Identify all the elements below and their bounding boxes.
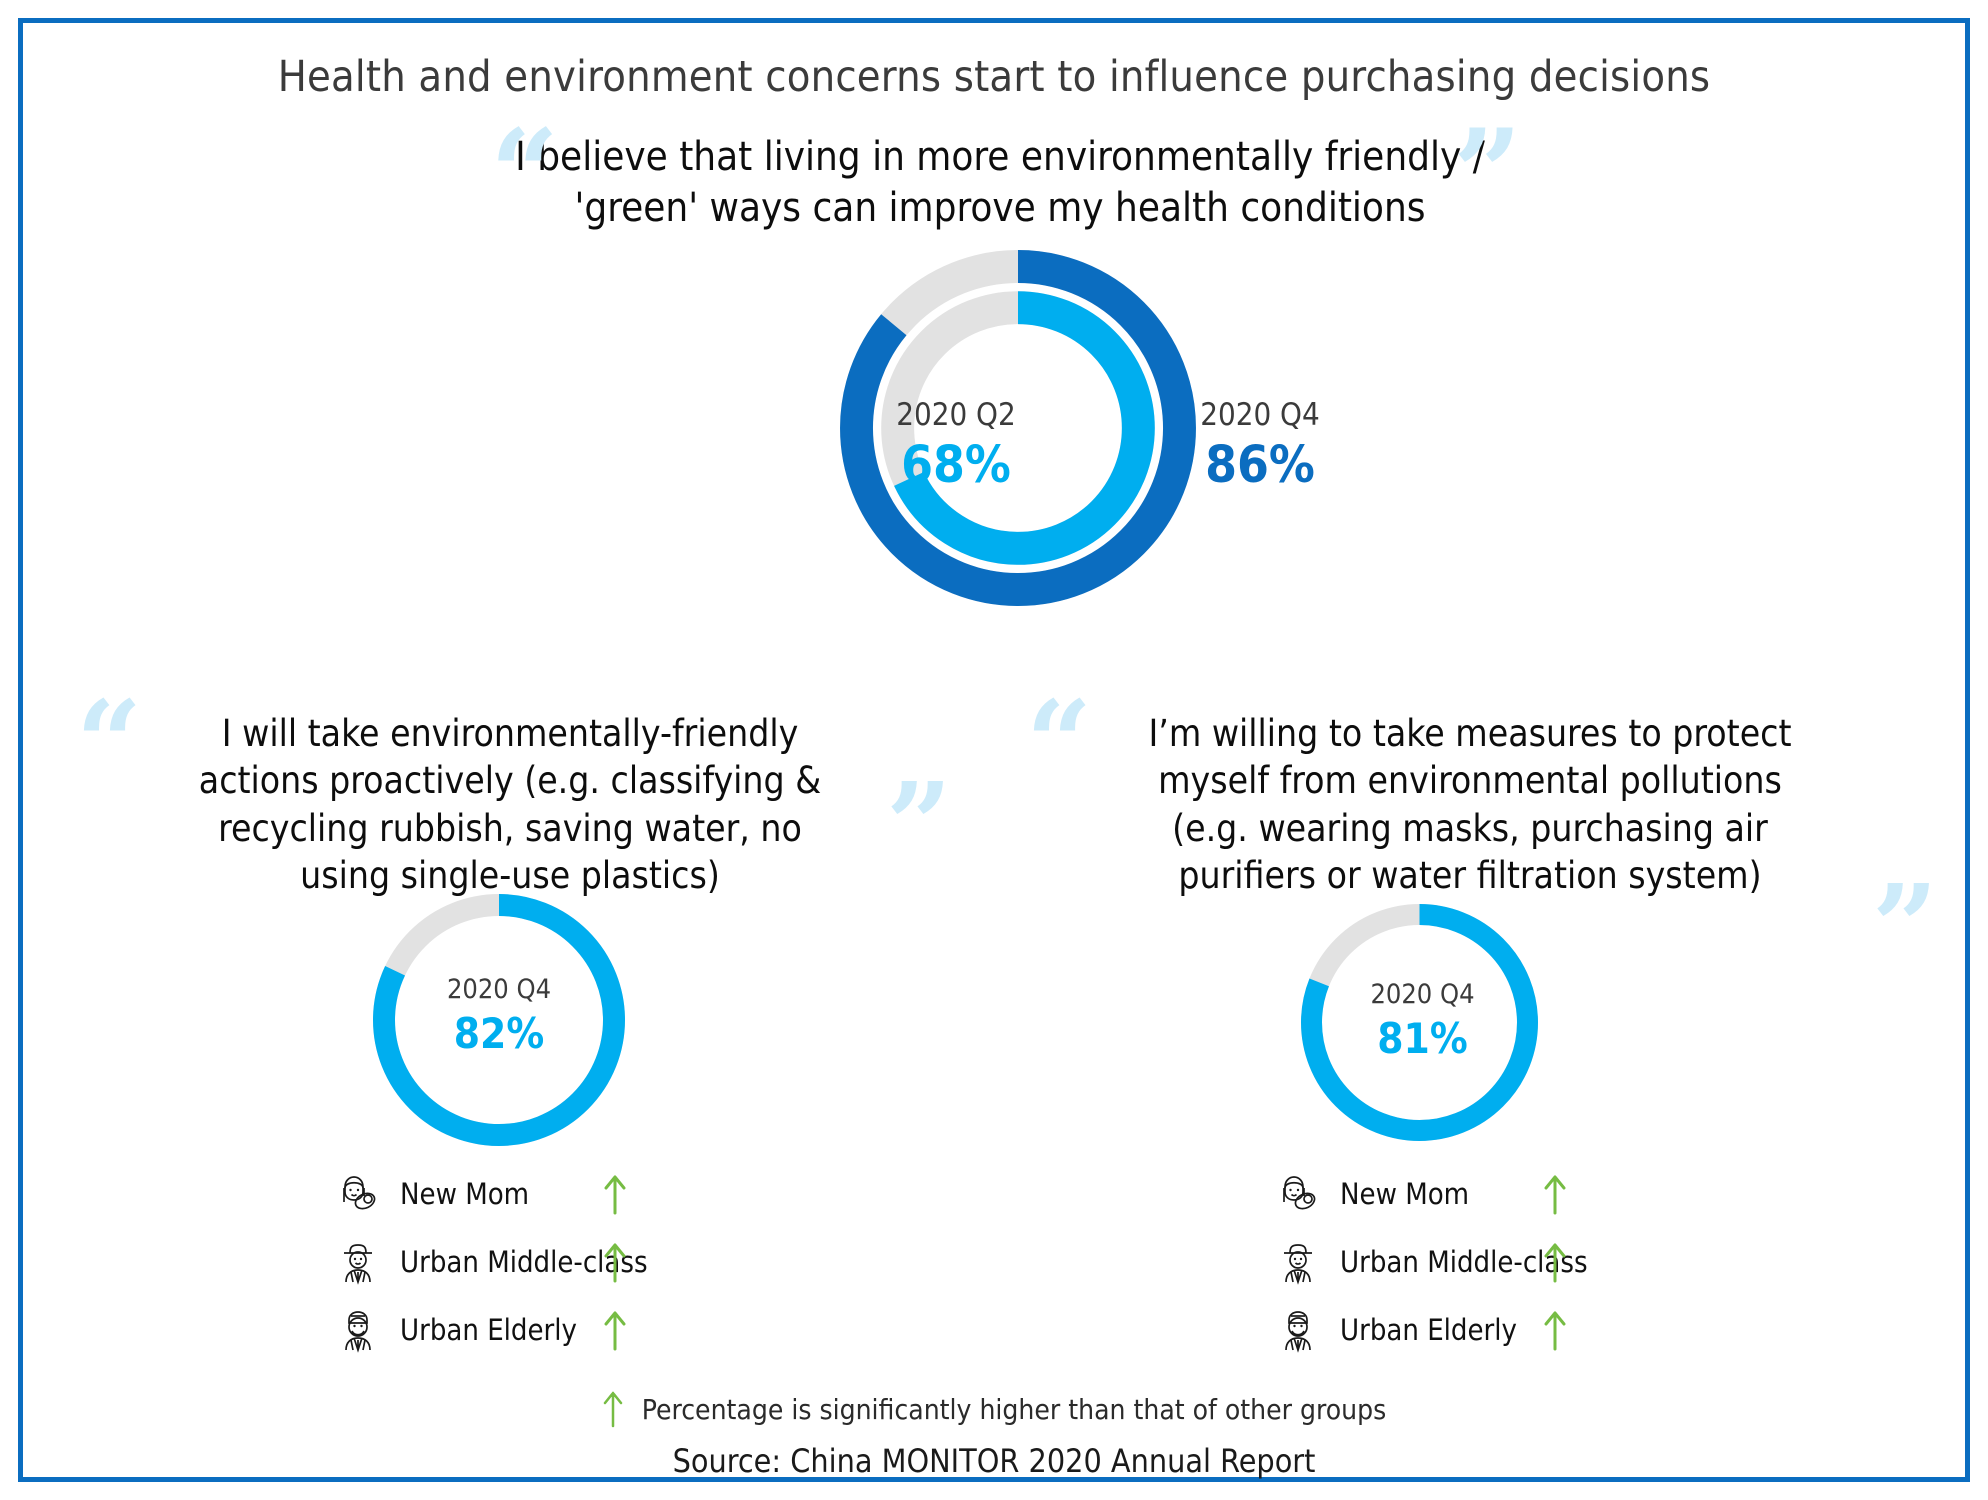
legend-item-urban-elderly: Urban Elderly [1270, 1296, 1700, 1364]
quote-open-icon: “ [76, 686, 142, 801]
legend-left: New Mom Urban Middle [330, 1160, 760, 1364]
new-mom-icon [330, 1166, 386, 1222]
up-arrow-icon [602, 1390, 624, 1428]
quote-close-icon: ” [1872, 870, 1938, 985]
quote-block-top: “ ” I believe that living in more enviro… [430, 132, 1570, 234]
legend-item-new-mom: New Mom [330, 1160, 760, 1228]
urban-middle-class-icon [330, 1234, 386, 1290]
quote-open-icon: “ [1026, 686, 1092, 801]
infographic-slide: Health and environment concerns start to… [0, 0, 1988, 1500]
quote-block-left: “ ” I will take environmentally-friendly… [140, 710, 880, 899]
quote-line: I’m willing to take measures to protect [1090, 710, 1850, 757]
page-title: Health and environment concerns start to… [0, 52, 1988, 102]
quote-line: 'green' ways can improve my health condi… [430, 183, 1570, 234]
urban-elderly-icon [1270, 1302, 1326, 1358]
quote-line: (e.g. wearing masks, purchasing air [1090, 805, 1850, 852]
source-text: Source: China MONITOR 2020 Annual Report [0, 1442, 1988, 1480]
legend-item-urban-middle-class: Urban Middle-class [330, 1228, 760, 1296]
period-label: 2020 Q4 [1160, 398, 1360, 432]
period-label: 2020 Q4 [1330, 980, 1515, 1010]
percentage-value: 68% [856, 438, 1056, 494]
quote-line: I will take environmentally-friendly [140, 710, 880, 757]
period-label: 2020 Q4 [404, 975, 594, 1005]
legend-right: New Mom Urban Middle [1270, 1160, 1700, 1364]
urban-elderly-icon [330, 1302, 386, 1358]
quote-line: myself from environmental pollutions [1090, 757, 1850, 804]
urban-middle-class-icon [1270, 1234, 1326, 1290]
legend-item-label: Urban Elderly [1340, 1313, 1517, 1347]
quote-line: I believe that living in more environmen… [430, 132, 1570, 183]
percentage-value: 86% [1160, 438, 1360, 494]
donut-label-right-q4: 2020 Q4 81% [1330, 980, 1515, 1062]
donut-label-2020-q2: 2020 Q2 68% [856, 398, 1056, 494]
percentage-value: 81% [1330, 1016, 1515, 1062]
up-arrow-icon [602, 1309, 628, 1351]
quote-line: purifiers or water filtration system) [1090, 852, 1850, 899]
period-label: 2020 Q2 [856, 398, 1056, 432]
donut-label-left-q4: 2020 Q4 82% [404, 975, 594, 1057]
quote-open-icon: “ [490, 114, 559, 234]
legend-item-label: New Mom [1340, 1177, 1469, 1211]
donut-label-2020-q4-outer: 2020 Q4 86% [1160, 398, 1360, 494]
footnote-text: Percentage is significantly higher than … [642, 1393, 1386, 1426]
percentage-value: 82% [404, 1011, 594, 1057]
legend-item-urban-elderly: Urban Elderly [330, 1296, 760, 1364]
quote-line: actions proactively (e.g. classifying & [140, 757, 880, 804]
quote-close-icon: ” [1453, 114, 1522, 234]
up-arrow-icon [1542, 1173, 1568, 1215]
legend-item-new-mom: New Mom [1270, 1160, 1700, 1228]
legend-item-label: Urban Elderly [400, 1313, 577, 1347]
legend-item-urban-middle-class: Urban Middle-class [1270, 1228, 1700, 1296]
quote-close-icon: ” [886, 768, 952, 883]
quote-block-right: “ ” I’m willing to take measures to prot… [1090, 710, 1850, 899]
up-arrow-icon [1542, 1241, 1568, 1283]
legend-item-label: New Mom [400, 1177, 529, 1211]
quote-line: recycling rubbish, saving water, no [140, 805, 880, 852]
up-arrow-icon [1542, 1309, 1568, 1351]
up-arrow-icon [602, 1241, 628, 1283]
footnote: Percentage is significantly higher than … [0, 1390, 1988, 1428]
up-arrow-icon [602, 1173, 628, 1215]
new-mom-icon [1270, 1166, 1326, 1222]
